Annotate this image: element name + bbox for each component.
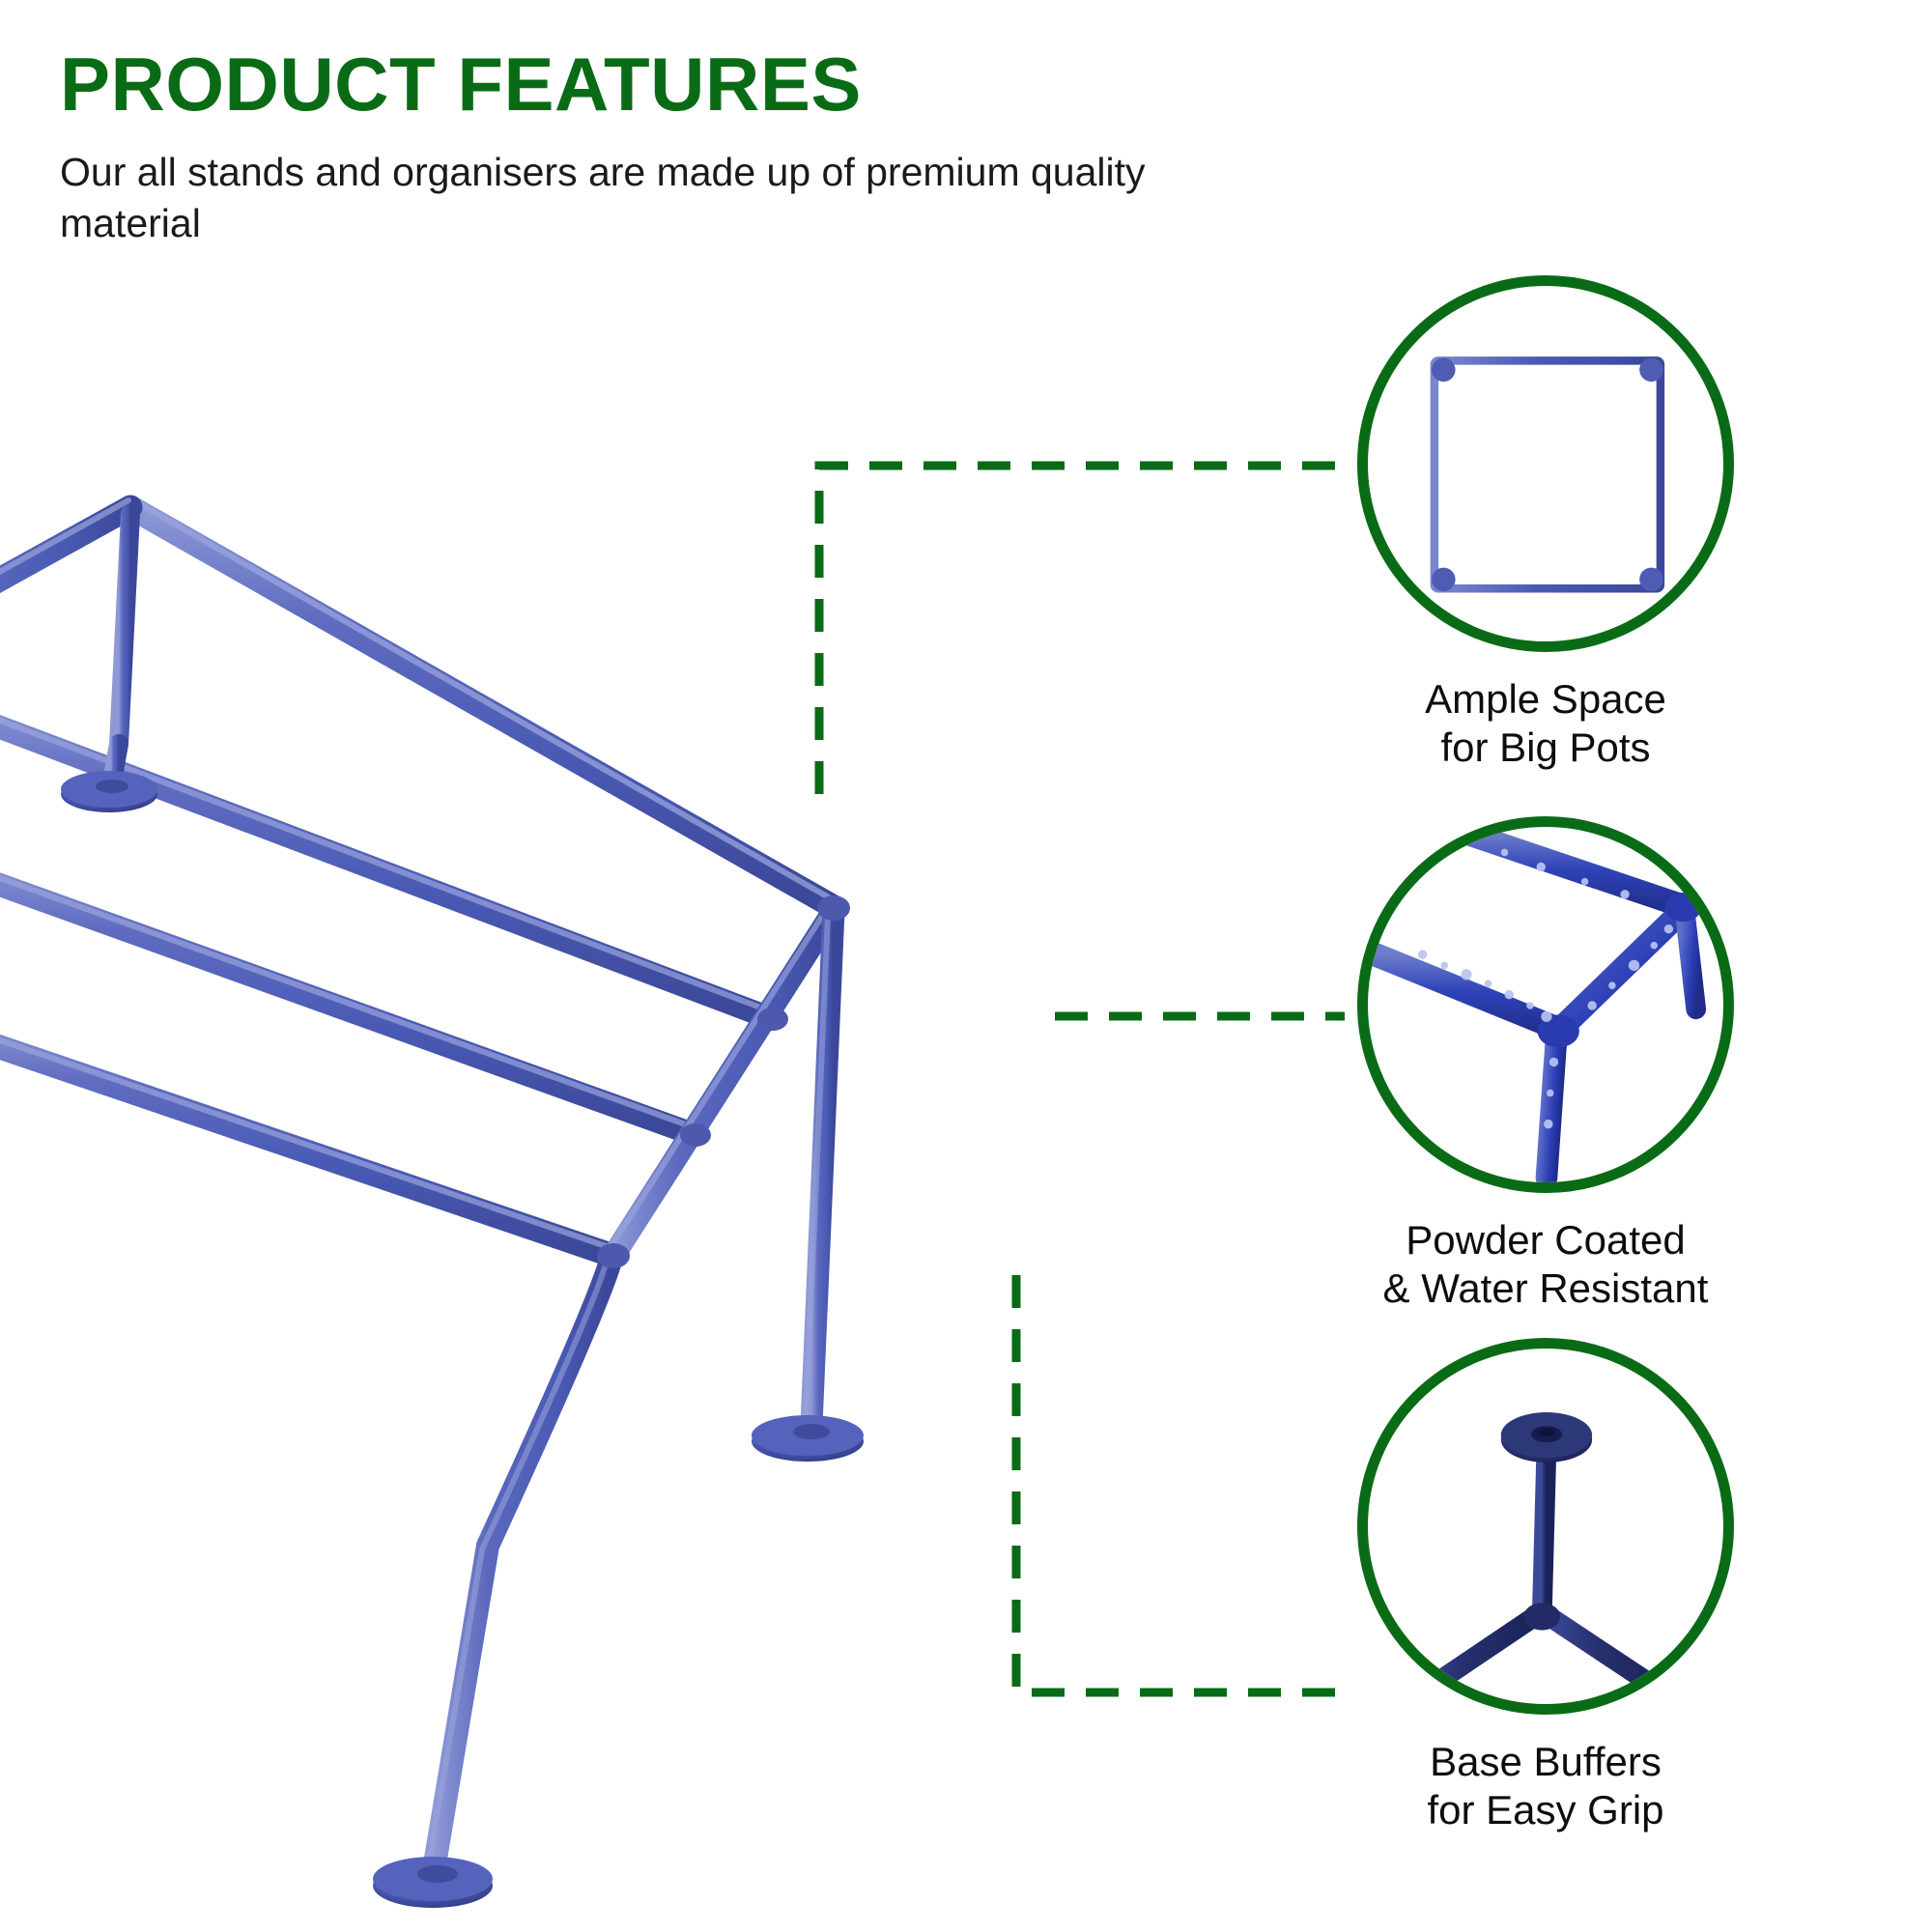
callout-label-1: Ample Space for Big Pots — [1425, 675, 1666, 773]
foot-buffer-icon — [1639, 568, 1663, 592]
rail-back-top — [130, 500, 836, 908]
rack-top-view-icon — [1368, 286, 1723, 641]
callout-label-3: Base Buffers for Easy Grip — [1427, 1738, 1663, 1835]
leg-base-buffer-icon — [1368, 1349, 1723, 1704]
rail-slat-4 — [0, 1008, 613, 1256]
header: PRODUCT FEATURES Our all stands and orga… — [60, 46, 1316, 250]
corner-joint-waterdrops-icon — [1368, 827, 1723, 1182]
callout-circle-2 — [1357, 816, 1734, 1193]
callout-label-2: Powder Coated & Water Resistant — [1383, 1216, 1709, 1314]
callout-ample-space[interactable]: Ample Space for Big Pots — [1343, 275, 1748, 773]
joint-node — [757, 1008, 788, 1031]
product-illustration — [0, 454, 1043, 1932]
joint-node — [817, 895, 850, 921]
callout-circle-3 — [1357, 1338, 1734, 1715]
callout-base-buffers[interactable]: Base Buffers for Easy Grip — [1343, 1338, 1748, 1835]
joint-node — [597, 1243, 630, 1268]
foot-buffer-icon — [1639, 358, 1663, 383]
callout-circle-1 — [1357, 275, 1734, 652]
rail-right-end — [608, 904, 836, 1256]
foot-buffer-icon — [1432, 568, 1456, 592]
connector-line-3 — [1016, 1275, 1350, 1692]
joint-node — [680, 1123, 711, 1147]
post-back-left — [119, 514, 130, 744]
page-title: PRODUCT FEATURES — [60, 46, 1316, 122]
rail-left-end-top — [0, 500, 130, 633]
callout-powder-coated[interactable]: Powder Coated & Water Resistant — [1343, 816, 1748, 1314]
leg-front-right — [373, 1258, 611, 1908]
page-subtitle: Our all stands and organisers are made u… — [60, 147, 1267, 250]
stand-frame — [0, 500, 864, 1908]
foot-buffer-icon — [1432, 358, 1456, 383]
product-image — [0, 454, 1043, 1932]
